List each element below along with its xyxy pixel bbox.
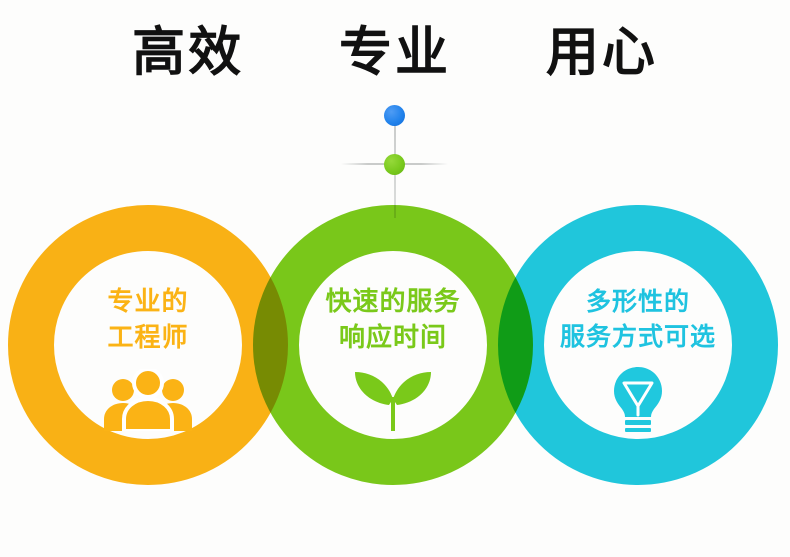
ring-engineers	[8, 205, 288, 485]
ring-service-modes	[498, 205, 778, 485]
ring-response-time	[253, 205, 533, 485]
venn-rings	[0, 0, 790, 557]
infographic-canvas: 高效 专业 用心 专业的 工程师	[0, 0, 790, 557]
